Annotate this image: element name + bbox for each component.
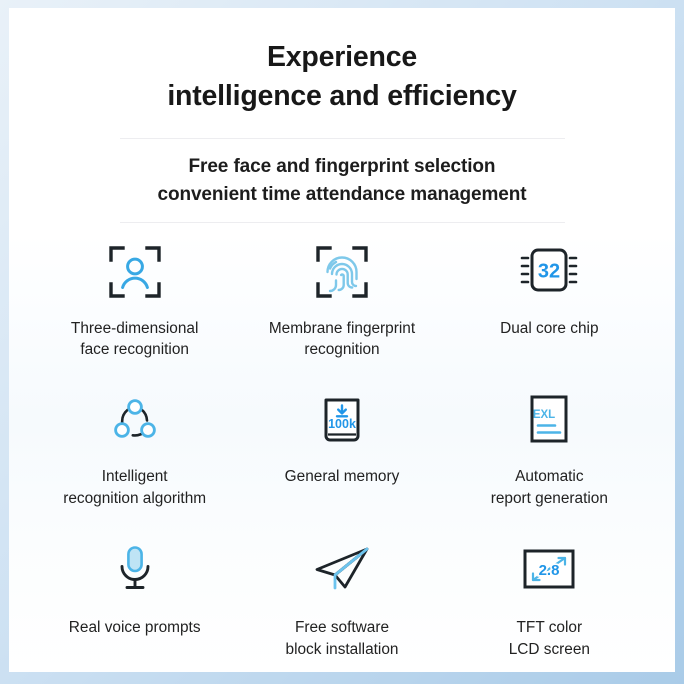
report-format-label: EXL	[533, 409, 555, 421]
memory-value: 100k	[328, 417, 356, 431]
feature-item-fingerprint: Membrane fingerprint recognition	[238, 223, 445, 362]
subtitle-line2: convenient time attendance management	[9, 181, 675, 209]
feature-row-3: Real voice prompts Free software block i…	[9, 510, 675, 661]
excel-report-icon: EXL	[525, 389, 573, 451]
memory-storage-icon: 100k	[316, 389, 368, 451]
fingerprint-scan-icon	[314, 241, 370, 303]
chip-value: 32	[538, 260, 560, 282]
feature-item-software-installation: Free software block installation	[238, 510, 445, 661]
page-title-line2: intelligence and efficiency	[9, 77, 675, 116]
feature-caption: Membrane fingerprint recognition	[269, 318, 415, 362]
subtitle-block: Free face and fingerprint selection conv…	[9, 139, 675, 222]
feature-item-dual-core-chip: 32 Dual core chip	[446, 223, 653, 362]
feature-caption: Free software block installation	[286, 617, 399, 661]
feature-caption: TFT color LCD screen	[509, 617, 590, 661]
header-block: Experience intelligence and efficiency F…	[9, 8, 675, 223]
feature-item-face-recognition: Three-dimensional face recognition	[31, 223, 238, 362]
lcd-screen-icon: 2.8	[520, 538, 578, 600]
feature-item-lcd-screen: 2.8 TFT color LCD screen	[446, 510, 653, 661]
feature-row-1: Three-dimensional face recognition	[9, 223, 675, 362]
feature-caption: Intelligent recognition algorithm	[63, 466, 206, 510]
feature-item-algorithm: Intelligent recognition algorithm	[31, 361, 238, 510]
algorithm-nodes-icon	[108, 389, 162, 451]
face-scan-icon	[107, 241, 163, 303]
feature-item-voice-prompts: Real voice prompts	[31, 510, 238, 661]
page-title-line1: Experience	[9, 38, 675, 77]
feature-caption: Automatic report generation	[491, 466, 608, 510]
feature-caption: General memory	[285, 466, 400, 488]
cpu-chip-icon: 32	[519, 241, 579, 303]
feature-item-report-generation: EXL Automatic report generation	[446, 361, 653, 510]
subtitle-line1: Free face and fingerprint selection	[9, 153, 675, 181]
outer-frame: Experience intelligence and efficiency F…	[0, 0, 684, 684]
feature-caption: Dual core chip	[500, 318, 598, 340]
feature-row-2: Intelligent recognition algorithm 100k	[9, 361, 675, 510]
paper-plane-icon	[311, 538, 373, 600]
feature-card: Experience intelligence and efficiency F…	[9, 8, 675, 672]
microphone-icon	[112, 538, 158, 600]
screen-size-value: 2.8	[539, 562, 560, 579]
feature-caption: Real voice prompts	[69, 617, 201, 639]
feature-caption: Three-dimensional face recognition	[71, 318, 198, 362]
feature-item-general-memory: 100k General memory	[238, 361, 445, 510]
